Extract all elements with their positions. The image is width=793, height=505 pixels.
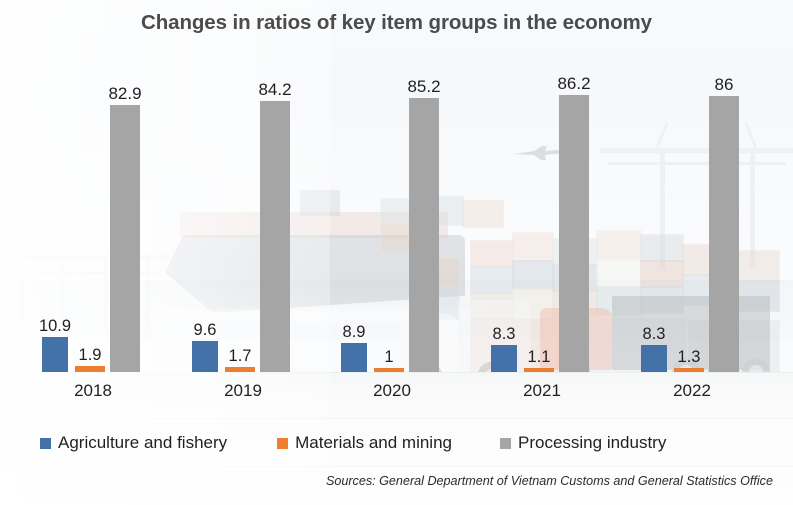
legend-item-materials[interactable]: Materials and mining bbox=[277, 433, 452, 453]
axis-label-2021: 2021 bbox=[467, 381, 617, 401]
bar-value-label: 1.1 bbox=[514, 349, 564, 366]
bar-processing-2018: 82.9 bbox=[110, 105, 140, 372]
bar-group-2022: 8.3 1.3 86 bbox=[629, 82, 779, 372]
bar-materials-2020: 1 bbox=[374, 368, 404, 372]
legend-label-processing: Processing industry bbox=[518, 433, 666, 453]
bar-materials-2019: 1.7 bbox=[225, 367, 255, 372]
chart-legend: Agriculture and fishery Materials and mi… bbox=[40, 433, 666, 453]
bar-materials-2018: 1.9 bbox=[75, 366, 105, 372]
legend-swatch-agriculture-icon bbox=[40, 438, 51, 449]
legend-item-processing[interactable]: Processing industry bbox=[500, 433, 666, 453]
bar-value-label: 8.3 bbox=[477, 326, 531, 343]
bar-value-label: 1 bbox=[364, 349, 414, 366]
legend-label-agriculture: Agriculture and fishery bbox=[58, 433, 227, 453]
axis-label-2020: 2020 bbox=[317, 381, 467, 401]
bar-group-2018: 10.9 1.9 82.9 bbox=[30, 82, 180, 372]
infographic-root: Changes in ratios of key item groups in … bbox=[0, 0, 793, 505]
bar-value-label: 8.3 bbox=[627, 326, 681, 343]
bar-group-2020: 8.9 1 85.2 bbox=[329, 82, 479, 372]
legend-swatch-materials-icon bbox=[277, 438, 288, 449]
bar-value-label: 9.6 bbox=[178, 322, 232, 339]
bar-value-label: 8.9 bbox=[327, 324, 381, 341]
bar-group-2019: 9.6 1.7 84.2 bbox=[180, 82, 330, 372]
bar-processing-2022: 86 bbox=[709, 96, 739, 372]
axis-label-2022: 2022 bbox=[617, 381, 767, 401]
source-note: Sources: General Department of Vietnam C… bbox=[326, 474, 773, 488]
bar-value-label: 85.2 bbox=[397, 78, 451, 95]
bar-value-label: 82.9 bbox=[98, 85, 152, 102]
bar-processing-2019: 84.2 bbox=[260, 101, 290, 372]
bar-value-label: 1.9 bbox=[65, 347, 115, 364]
legend-swatch-processing-icon bbox=[500, 438, 511, 449]
bar-value-label: 1.7 bbox=[215, 348, 265, 365]
legend-item-agriculture[interactable]: Agriculture and fishery bbox=[40, 433, 227, 453]
bar-group-2021: 8.3 1.1 86.2 bbox=[479, 82, 629, 372]
axis-label-2019: 2019 bbox=[168, 381, 318, 401]
bar-value-label: 1.3 bbox=[664, 349, 714, 366]
bar-processing-2021: 86.2 bbox=[559, 95, 589, 372]
bar-processing-2020: 85.2 bbox=[409, 98, 439, 372]
legend-label-materials: Materials and mining bbox=[295, 433, 452, 453]
bar-materials-2021: 1.1 bbox=[524, 368, 554, 372]
bar-value-label: 10.9 bbox=[28, 318, 82, 335]
axis-label-2018: 2018 bbox=[18, 381, 168, 401]
bar-materials-2022: 1.3 bbox=[674, 368, 704, 372]
bar-value-label: 84.2 bbox=[248, 81, 302, 98]
bar-value-label: 86.2 bbox=[547, 75, 601, 92]
bar-chart: 10.9 1.9 82.9 2018 9.6 1.7 84.2 2019 bbox=[0, 0, 793, 505]
bar-value-label: 86 bbox=[697, 76, 751, 93]
